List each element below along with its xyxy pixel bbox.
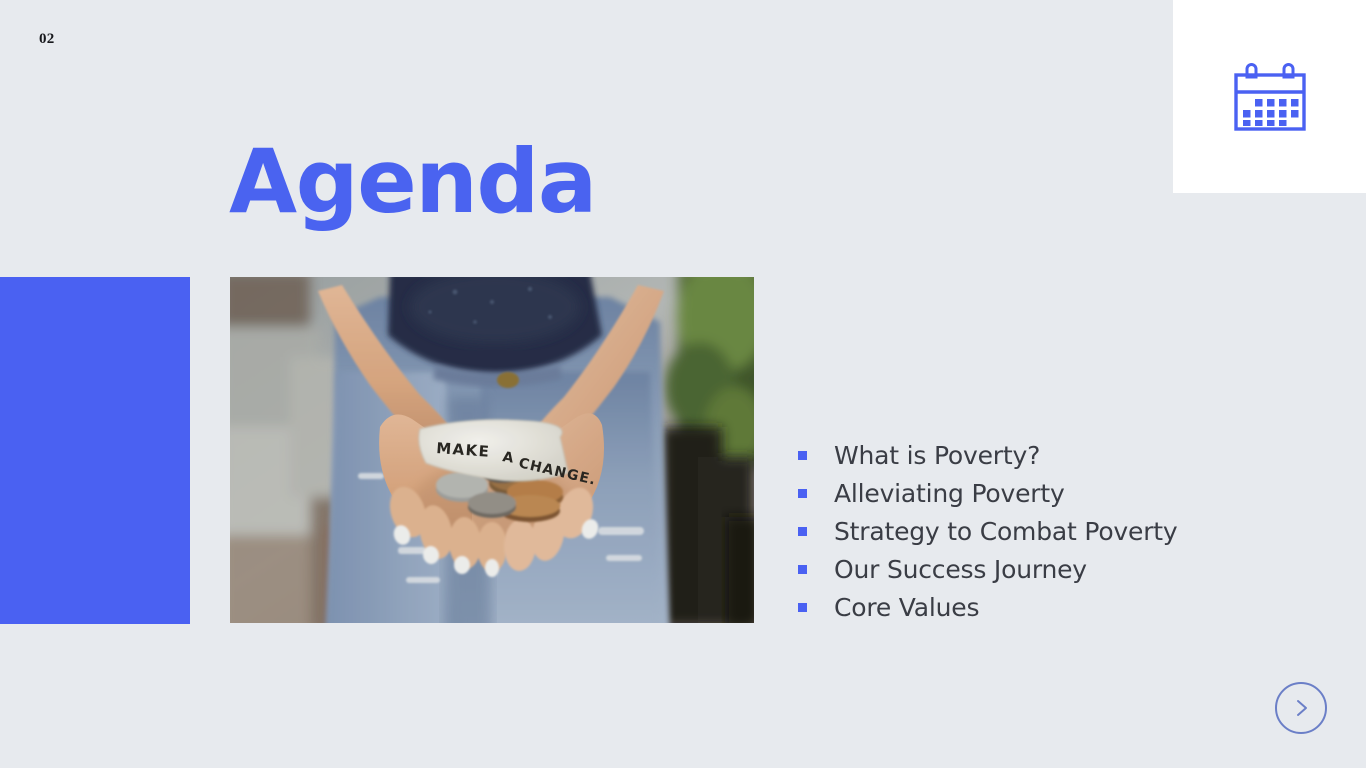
list-item[interactable]: What is Poverty? [798,436,1228,474]
list-item[interactable]: Our Success Journey [798,550,1228,588]
bullet-square-icon [798,451,807,460]
list-item[interactable]: Strategy to Combat Poverty [798,512,1228,550]
bullet-square-icon [798,603,807,612]
agenda-item-label: Alleviating Poverty [834,479,1065,508]
decorative-blue-block [0,277,190,624]
agenda-item-label: Strategy to Combat Poverty [834,517,1177,546]
agenda-photo: MAKE A CHANGE. [230,277,754,623]
bullet-square-icon [798,565,807,574]
page-number: 02 [39,31,55,48]
calendar-icon-card [1173,0,1366,193]
agenda-item-label: What is Poverty? [834,441,1040,470]
list-item[interactable]: Alleviating Poverty [798,474,1228,512]
bullet-square-icon [798,489,807,498]
agenda-item-label: Our Success Journey [834,555,1087,584]
agenda-item-label: Core Values [834,593,979,622]
calendar-icon [1228,55,1312,139]
next-slide-button[interactable] [1275,682,1327,734]
agenda-list: What is Poverty? Alleviating Poverty Str… [798,436,1228,626]
chevron-right-icon [1292,698,1312,718]
bullet-square-icon [798,527,807,536]
list-item[interactable]: Core Values [798,588,1228,626]
presentation-slide: 02 [0,0,1366,768]
page-title: Agenda [229,138,596,226]
